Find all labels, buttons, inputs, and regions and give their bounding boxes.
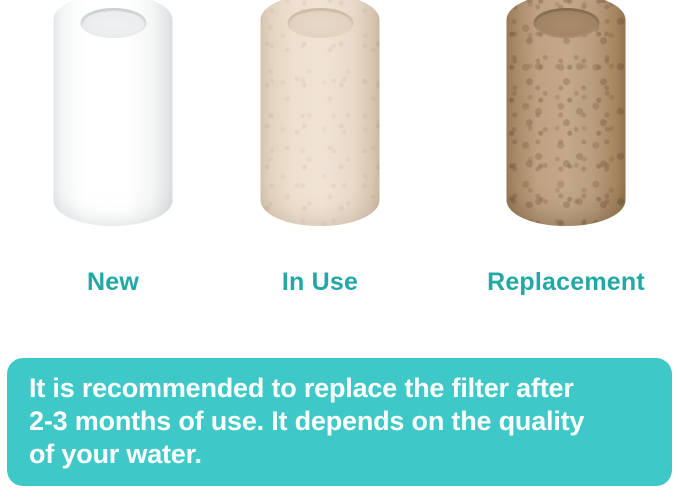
filter-label-replacement: Replacement (453, 268, 679, 297)
cartridge-bore-inner (83, 11, 143, 36)
filter-cartridge-icon-in-use (261, 0, 380, 226)
filter-cartridge-icon-replacement (507, 0, 626, 226)
recommendation-text-line-3: of your water. (29, 438, 652, 471)
filter-comparison-item-replacement: Replacement (453, 0, 679, 320)
cartridge-bore-inner (290, 11, 350, 36)
recommendation-text-line-2: 2-3 months of use. It depends on the qua… (29, 405, 652, 438)
cartridge-bore-inner (536, 11, 596, 36)
recommendation-text-line-1: It is recommended to replace the filter … (29, 372, 652, 405)
filter-label-new: New (0, 268, 226, 297)
filter-comparison-row: New In Use Replacement (0, 0, 679, 320)
filter-cartridge-icon-new (54, 0, 173, 226)
filter-comparison-item-in-use: In Use (207, 0, 433, 320)
filter-comparison-item-new: New (0, 0, 226, 320)
filter-label-in-use: In Use (207, 268, 433, 297)
recommendation-banner: It is recommended to replace the filter … (7, 358, 672, 486)
